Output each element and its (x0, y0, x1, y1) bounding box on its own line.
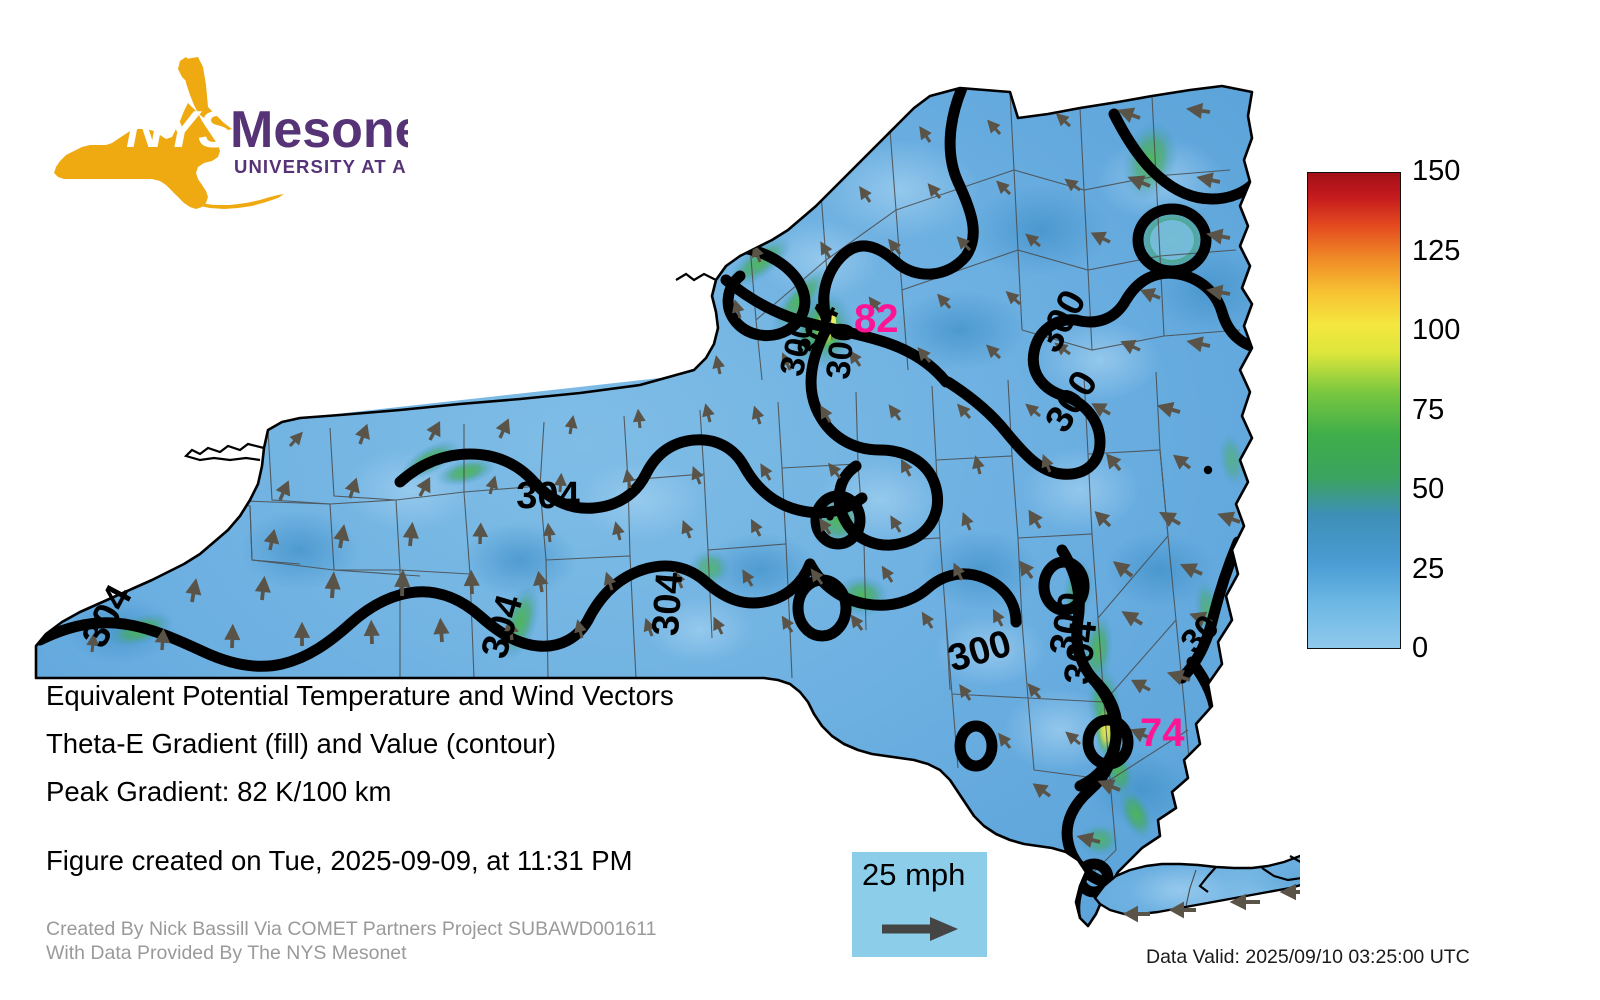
svg-text:304: 304 (516, 475, 579, 517)
colorbar-tick-50: 50 (1412, 475, 1444, 504)
title-line-3-peak-gradient: Peak Gradient: 82 K/100 km (46, 768, 886, 816)
credits-block: Created By Nick Bassill Via COMET Partne… (46, 917, 657, 965)
figure-canvas: NYS Mesonet UNIVERSITY AT ALBANY (0, 0, 1600, 1000)
secondary-gradient-label: 74 (1140, 711, 1185, 755)
wind-reference-legend: 25 mph (852, 852, 987, 957)
figure-created-timestamp: Figure created on Tue, 2025-09-09, at 11… (46, 845, 633, 877)
figure-titles: Equivalent Potential Temperature and Win… (46, 672, 886, 816)
svg-text:304: 304 (645, 571, 691, 637)
colorbar-tick-100: 100 (1412, 316, 1460, 345)
data-valid-timestamp: Data Valid: 2025/09/10 03:25:00 UTC (1146, 946, 1470, 969)
station-dot (1204, 466, 1212, 474)
title-line-2: Theta-E Gradient (fill) and Value (conto… (46, 720, 886, 768)
colorbar-tick-75: 75 (1412, 396, 1444, 425)
station-dot (826, 513, 833, 520)
colorbar-tick-labels: 1501251007550250 (1412, 160, 1532, 670)
title-line-1: Equivalent Potential Temperature and Win… (46, 672, 886, 720)
colorbar-tick-25: 25 (1412, 555, 1444, 584)
credits-line-1: Created By Nick Bassill Via COMET Partne… (46, 917, 657, 941)
credits-line-2: With Data Provided By The NYS Mesonet (46, 941, 657, 965)
colorbar-tick-0: 0 (1412, 634, 1428, 663)
colorbar-tick-125: 125 (1412, 237, 1460, 266)
wind-legend-label: 25 mph (862, 858, 965, 892)
colorbar-tick-150: 150 (1412, 157, 1460, 186)
peak-gradient-label: 82 (854, 297, 899, 341)
svg-text:304: 304 (1057, 619, 1105, 686)
wind-arrow-icon (880, 914, 962, 949)
colorbar (1307, 172, 1401, 649)
